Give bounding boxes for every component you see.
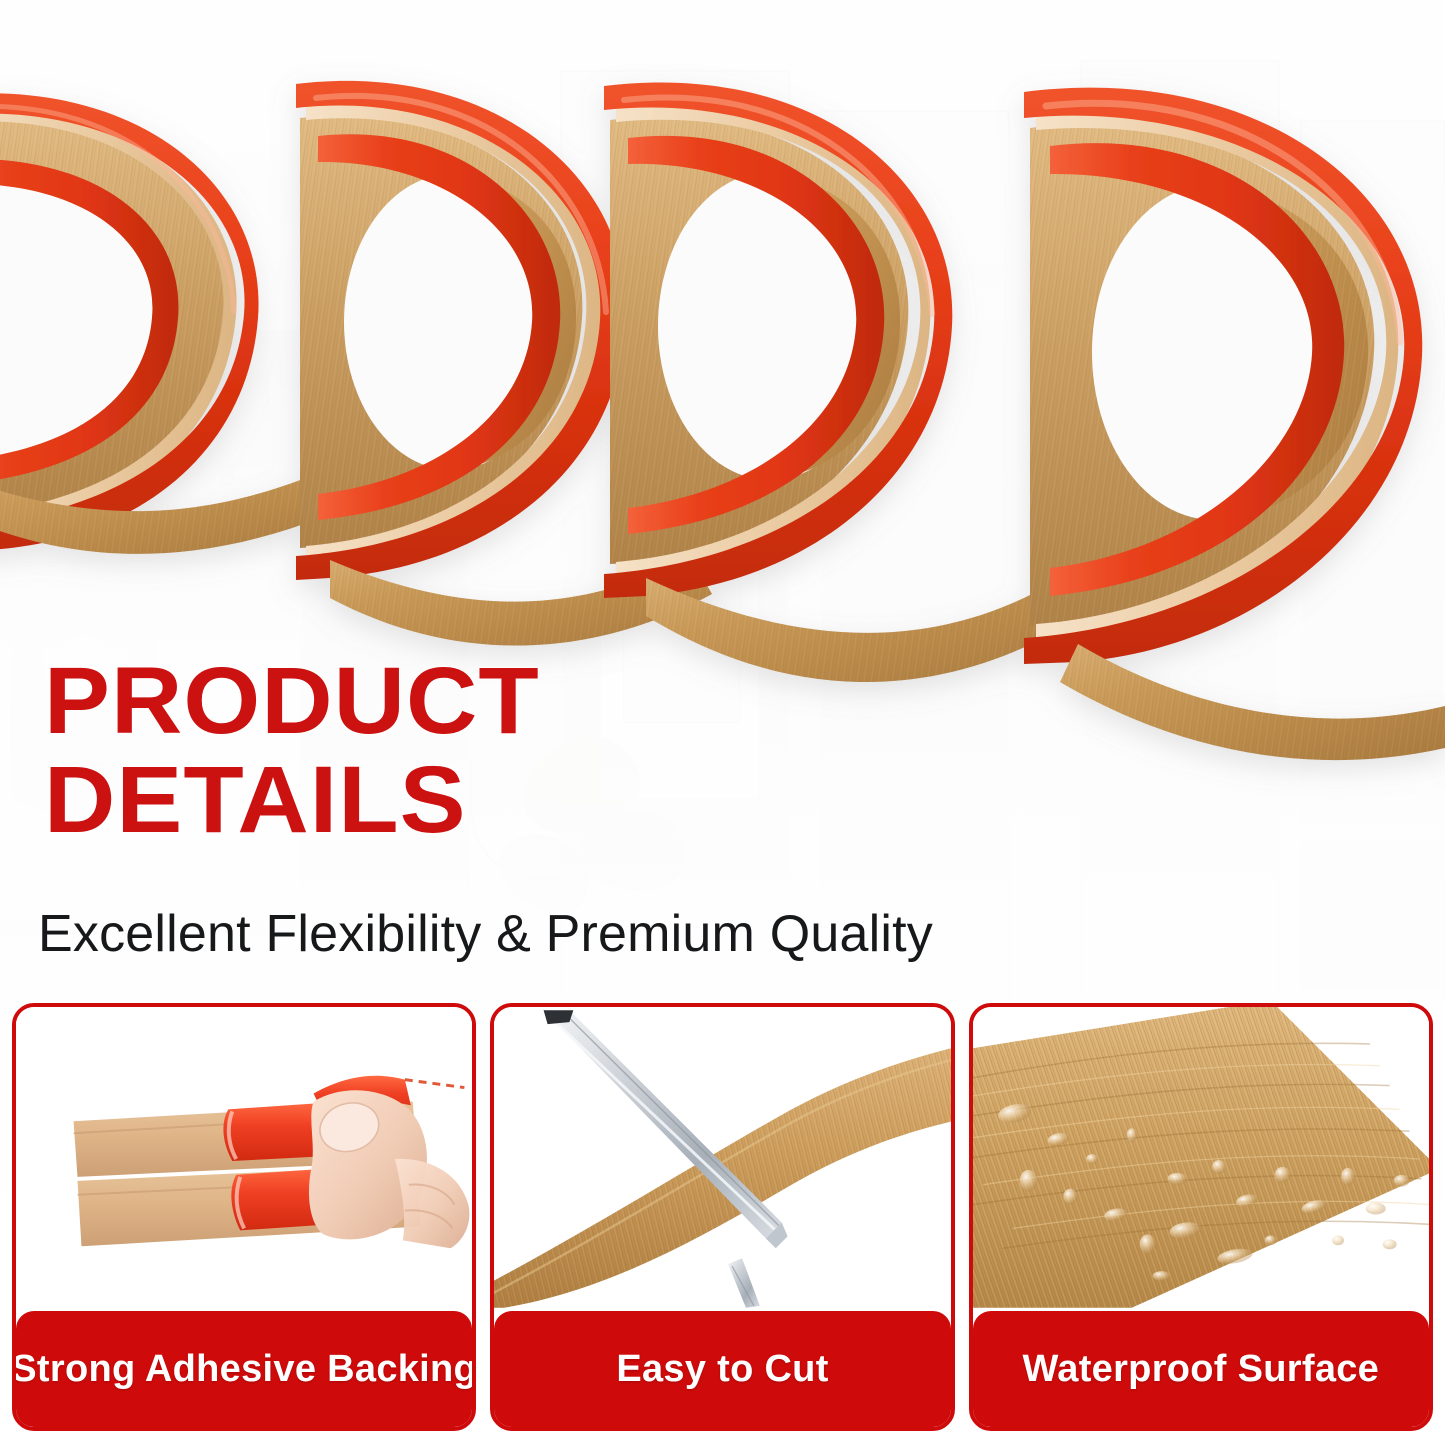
feature-panel-cut[interactable]: Easy to Cut [490,1003,954,1431]
coil-2 [296,81,626,580]
panel-caption-text: Strong Adhesive Backing [12,1348,476,1391]
coil-4 [1024,88,1422,664]
feature-panels: Strong Adhesive Backing [12,1003,1433,1431]
adhesive-photo [16,1007,472,1311]
panel-caption-cut: Easy to Cut [494,1311,950,1427]
waterproof-photo [973,1007,1429,1311]
panel-caption-adhesive: Strong Adhesive Backing [16,1311,472,1427]
subheadline: Excellent Flexibility & Premium Quality [38,904,1158,964]
feature-panel-waterproof[interactable]: Waterproof Surface [969,1003,1433,1431]
coil-1 [0,93,259,550]
panel-caption-text: Easy to Cut [616,1348,828,1391]
headline-line-1: PRODUCT [44,655,772,748]
product-details-infographic: PRODUCT DETAILS Excellent Flexibility & … [0,0,1445,1445]
feature-panel-adhesive[interactable]: Strong Adhesive Backing [12,1003,476,1431]
headline-block: PRODUCT DETAILS [44,655,744,847]
coil-3 [604,82,952,598]
panel-caption-waterproof: Waterproof Surface [973,1311,1429,1427]
panel-caption-text: Waterproof Surface [1023,1348,1380,1391]
headline-line-2: DETAILS [44,754,772,847]
cut-photo [494,1007,950,1311]
ribbon-tail-end [1060,644,1445,760]
